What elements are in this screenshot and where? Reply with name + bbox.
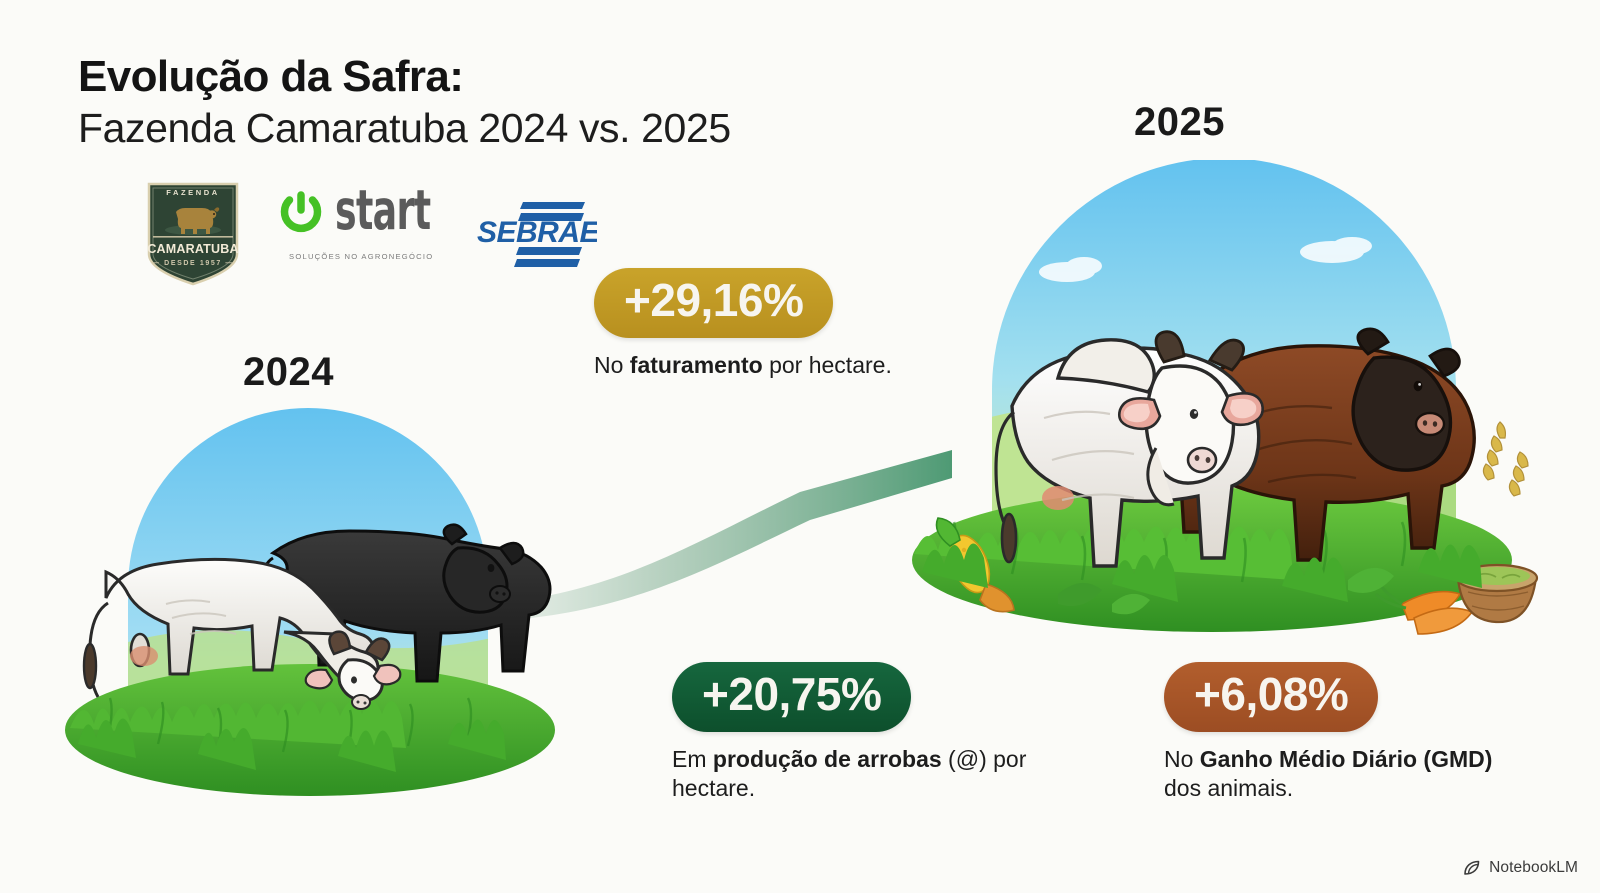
- stat-arrobas: +20,75% Em produção de arrobas (@) por h…: [672, 662, 1032, 804]
- title-line-1: Evolução da Safra:: [78, 52, 938, 101]
- sebrae-logo: SEBRAE: [469, 194, 597, 274]
- title-line-2: Fazenda Camaratuba 2024 vs. 2025: [78, 105, 938, 152]
- stat-value-faturamento: +29,16%: [594, 268, 833, 338]
- svg-text:SEBRAE: SEBRAE: [477, 216, 597, 249]
- notebooklm-watermark: NotebookLM: [1463, 859, 1578, 877]
- sebrae-mark-icon: SEBRAE: [469, 194, 597, 274]
- stat-caption-gmd: No Ganho Médio Diário (GMD) dos animais.: [1164, 745, 1524, 804]
- caption-suffix: dos animais.: [1164, 775, 1293, 801]
- infographic-canvas: Evolução da Safra: Fazenda Camaratuba 20…: [0, 0, 1600, 893]
- start-wordmark: start: [335, 178, 430, 242]
- notebooklm-label: NotebookLM: [1489, 859, 1578, 877]
- scene-2024-illustration: [48, 408, 568, 808]
- crest-top-text: FAZENDA: [145, 188, 241, 197]
- notebooklm-icon: [1463, 860, 1482, 876]
- caption-bold: produção de arrobas: [713, 746, 942, 772]
- year-label-2025: 2025: [1134, 100, 1225, 145]
- fazenda-camaratuba-logo: FAZENDA CAMARATUBA — DESDE 1957 —: [145, 176, 241, 288]
- page-title: Evolução da Safra: Fazenda Camaratuba 20…: [78, 52, 938, 152]
- caption-prefix: No: [1164, 746, 1200, 772]
- stat-caption-arrobas: Em produção de arrobas (@) por hectare.: [672, 745, 1032, 804]
- crest-cow-icon: [162, 202, 224, 236]
- power-icon: [275, 186, 327, 238]
- logo-row: FAZENDA CAMARATUBA — DESDE 1957 — start …: [145, 176, 597, 288]
- stat-caption-faturamento: No faturamento por hectare.: [594, 351, 892, 380]
- year-label-2024: 2024: [243, 350, 334, 395]
- stat-value-gmd: +6,08%: [1164, 662, 1378, 732]
- caption-bold: faturamento: [630, 352, 763, 378]
- stat-gmd: +6,08% No Ganho Médio Diário (GMD) dos a…: [1164, 662, 1524, 804]
- start-tagline: SOLUÇÕES NO AGRONEGÓCIO: [289, 252, 433, 261]
- scene-2025-illustration: [862, 160, 1542, 640]
- caption-bold: Ganho Médio Diário (GMD): [1200, 746, 1493, 772]
- crest-farm-name: CAMARATUBA: [145, 242, 241, 256]
- caption-prefix: Em: [672, 746, 713, 772]
- stat-faturamento: +29,16% No faturamento por hectare.: [594, 268, 892, 380]
- stat-value-arrobas: +20,75%: [672, 662, 911, 732]
- start-logo: start SOLUÇÕES NO AGRONEGÓCIO: [275, 184, 435, 280]
- wheat-icon: [1483, 422, 1528, 496]
- crest-since-text: — DESDE 1957 —: [145, 260, 241, 267]
- caption-suffix: por hectare.: [763, 352, 892, 378]
- caption-prefix: No: [594, 352, 630, 378]
